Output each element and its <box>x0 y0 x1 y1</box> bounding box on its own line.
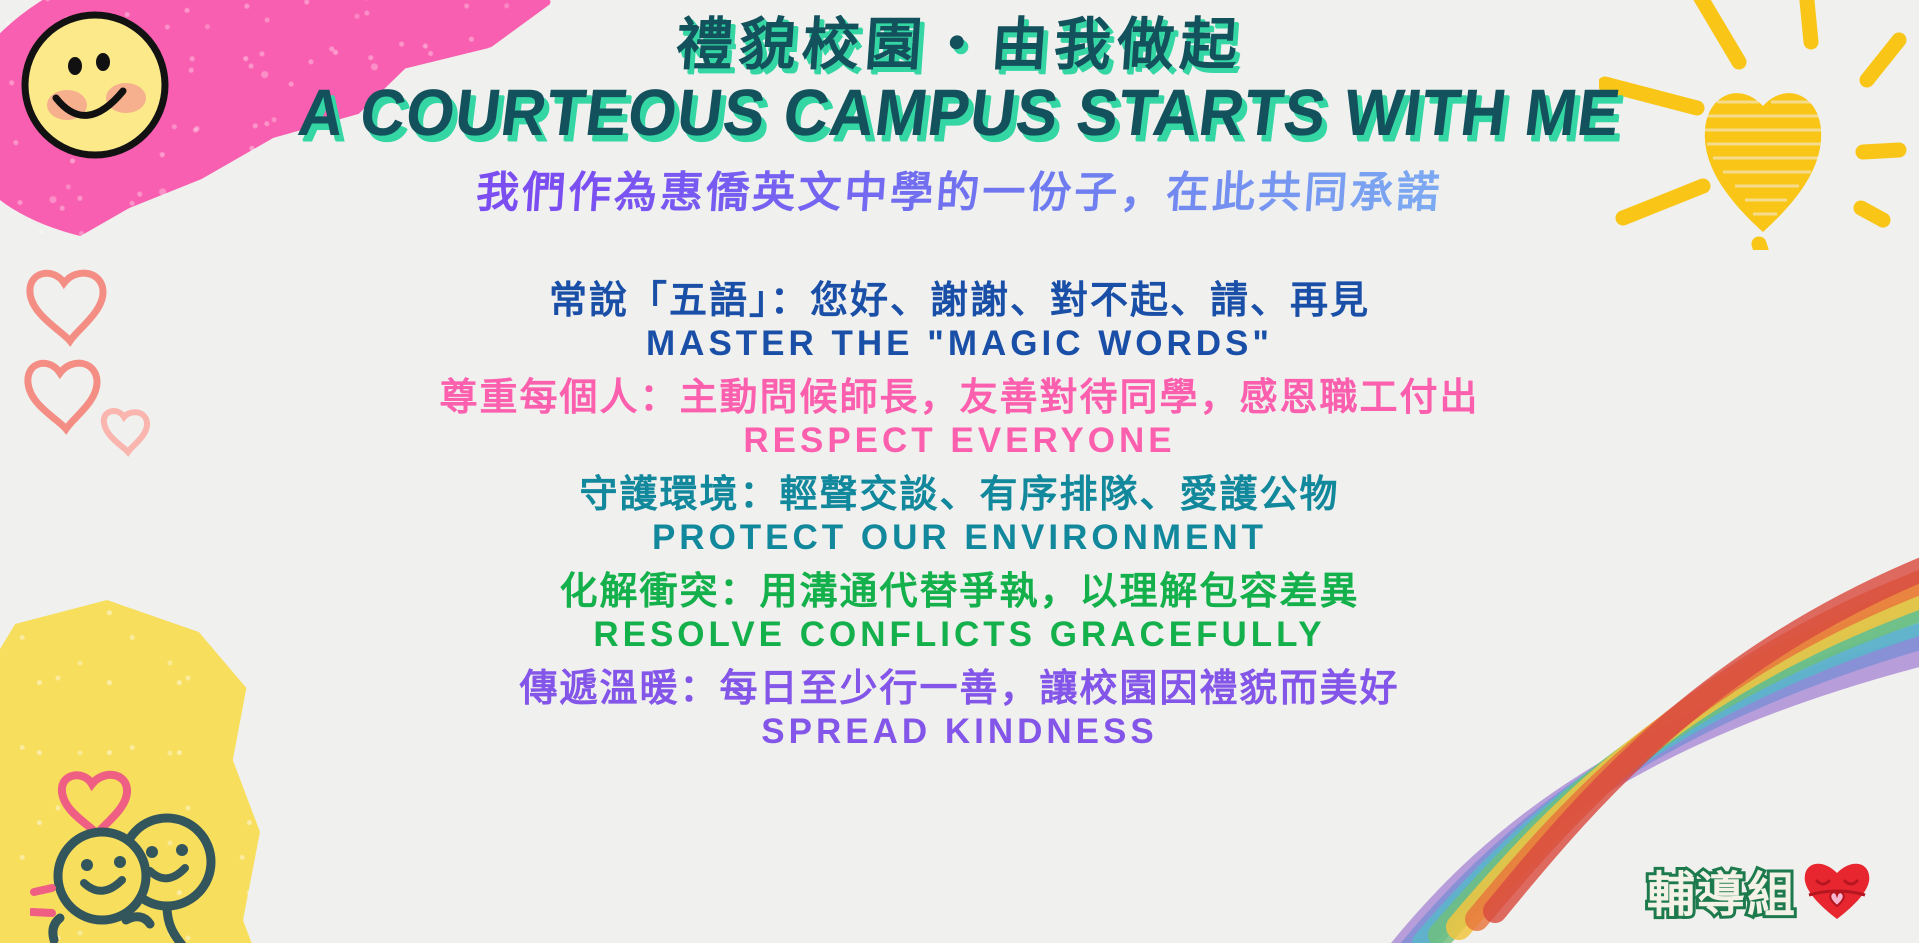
pledge-english: RESPECT EVERYONE <box>0 421 1919 470</box>
pledge-english: PROTECT OUR ENVIRONMENT <box>0 518 1919 567</box>
counselling-team-badge: 輔導組 <box>1647 855 1873 925</box>
pledge-item: 守護環境：輕聲交談、有序排隊、愛護公物 PROTECT OUR ENVIRONM… <box>0 470 1919 567</box>
title-chinese: 禮貌校園・由我做起 <box>0 14 1919 77</box>
title-english: A COURTEOUS CAMPUS STARTS WITH ME <box>0 77 1919 151</box>
poster-canvas: 禮貌校園・由我做起 A COURTEOUS CAMPUS STARTS WITH… <box>0 0 1919 943</box>
pledge-list: 常說「五語」：您好、謝謝、對不起、請、再見 MASTER THE "MAGIC … <box>0 276 1919 761</box>
pledge-item: 常說「五語」：您好、謝謝、對不起、請、再見 MASTER THE "MAGIC … <box>0 276 1919 373</box>
pledge-chinese: 尊重每個人：主動問候師長，友善對待同學，感恩職工付出 <box>0 373 1919 421</box>
pledge-chinese: 守護環境：輕聲交談、有序排隊、愛護公物 <box>0 470 1919 518</box>
pledge-chinese: 化解衝突：用溝通代替爭執，以理解包容差異 <box>0 567 1919 615</box>
pledge-chinese: 常說「五語」：您好、謝謝、對不起、請、再見 <box>0 276 1919 324</box>
pledge-english: RESOLVE CONFLICTS GRACEFULLY <box>0 615 1919 664</box>
two-friends-icon <box>30 740 240 943</box>
pledge-item: 傳遞溫暖：每日至少行一善，讓校園因禮貌而美好 SPREAD KINDNESS <box>0 664 1919 761</box>
pledge-english: SPREAD KINDNESS <box>0 712 1919 761</box>
poster-header: 禮貌校園・由我做起 A COURTEOUS CAMPUS STARTS WITH… <box>0 0 1919 220</box>
pledge-chinese: 傳遞溫暖：每日至少行一善，讓校園因禮貌而美好 <box>0 664 1919 712</box>
pledge-item: 化解衝突：用溝通代替爭執，以理解包容差異 RESOLVE CONFLICTS G… <box>0 567 1919 664</box>
badge-label: 輔導組 <box>1647 855 1797 925</box>
hugging-heart-icon <box>1801 857 1873 923</box>
pledge-item: 尊重每個人：主動問候師長，友善對待同學，感恩職工付出 RESPECT EVERY… <box>0 373 1919 470</box>
subtitle-chinese: 我們作為惠僑英文中學的一份子，在此共同承諾 <box>0 158 1919 220</box>
pledge-english: MASTER THE "MAGIC WORDS" <box>0 324 1919 373</box>
